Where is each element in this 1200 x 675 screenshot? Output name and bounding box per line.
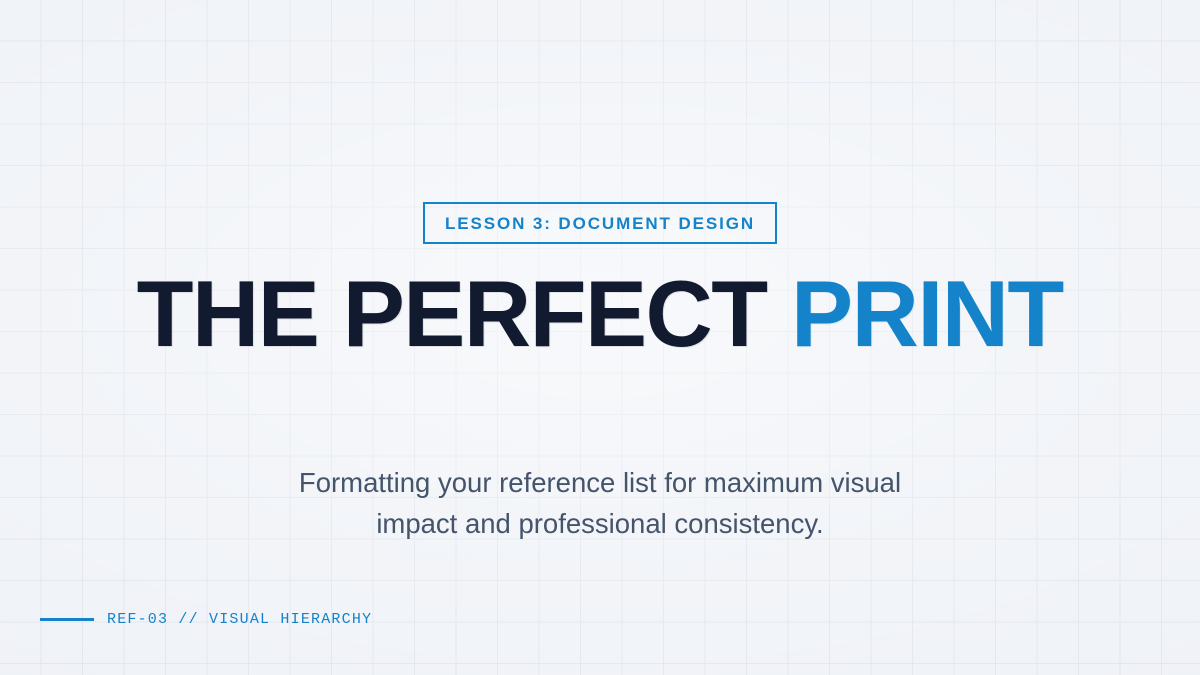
slide-title: THE PERFECT PRINT xyxy=(137,267,1063,361)
slide-subtitle-line-1: Formatting your reference list for maxim… xyxy=(299,467,901,498)
slide-subtitle-line-2: impact and professional consistency. xyxy=(376,508,823,539)
slide-title-primary: THE PERFECT xyxy=(137,261,767,366)
lesson-badge-label: LESSON 3: DOCUMENT DESIGN xyxy=(445,215,755,232)
slide-content: LESSON 3: DOCUMENT DESIGN THE PERFECT PR… xyxy=(0,0,1200,675)
slide-footer: REF-03 // VISUAL HIERARCHY xyxy=(40,612,372,627)
footer-reference-label: REF-03 // VISUAL HIERARCHY xyxy=(107,612,372,627)
slide-subtitle: Formatting your reference list for maxim… xyxy=(280,462,920,544)
footer-rule-icon xyxy=(40,618,94,621)
slide-title-accent: PRINT xyxy=(791,261,1063,366)
lesson-badge: LESSON 3: DOCUMENT DESIGN xyxy=(423,202,777,244)
presentation-slide: LESSON 3: DOCUMENT DESIGN THE PERFECT PR… xyxy=(0,0,1200,675)
slide-title-space xyxy=(767,261,791,366)
